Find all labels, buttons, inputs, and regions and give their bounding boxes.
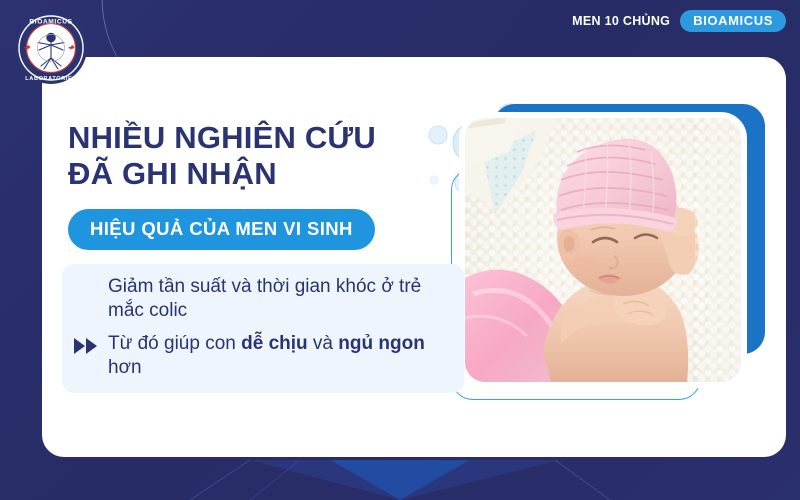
page-title: NHIỀU NGHIÊN CỨU ĐÃ GHI NHẬN: [68, 120, 468, 193]
content-column: NHIỀU NGHIÊN CỨU ĐÃ GHI NHẬN HIỆU QUẢ CỦ…: [68, 120, 468, 393]
logo-bottom-arc-text: LABORATORIES: [25, 76, 76, 82]
photo-block: [455, 110, 765, 400]
header-brand-badge[interactable]: BIOAMICUS: [680, 10, 786, 32]
slide-canvas: MEN 10 CHỦNG BIOAMICUS BIOAMICUS: [0, 0, 800, 500]
list-item: Giảm tần suất và thời gian khóc ở trẻ mắ…: [74, 274, 452, 324]
list-item: Từ đó giúp con dễ chịu và ngủ ngon hơn: [74, 331, 452, 381]
bottom-geometric-decoration: [0, 460, 800, 500]
header-label: MEN 10 CHỦNG: [572, 14, 670, 28]
bullet-text-1: Giảm tần suất và thời gian khóc ở trẻ mắ…: [108, 274, 452, 324]
double-chevron-icon: [74, 331, 100, 349]
bullet-text-2: Từ đó giúp con dễ chịu và ngủ ngon hơn: [108, 331, 452, 381]
header-bar: MEN 10 CHỦNG BIOAMICUS: [0, 0, 800, 42]
bullet-list: Giảm tần suất và thời gian khóc ở trẻ mắ…: [62, 264, 464, 393]
baby-photo: [465, 118, 741, 382]
bioamicus-logo[interactable]: BIOAMICUS LABORATORIES: [14, 11, 88, 85]
logo-top-arc-text: BIOAMICUS: [29, 19, 72, 26]
bullet-marker-empty: [74, 274, 100, 292]
highlight-pill: HIỆU QUẢ CỦA MEN VI SINH: [68, 209, 375, 250]
